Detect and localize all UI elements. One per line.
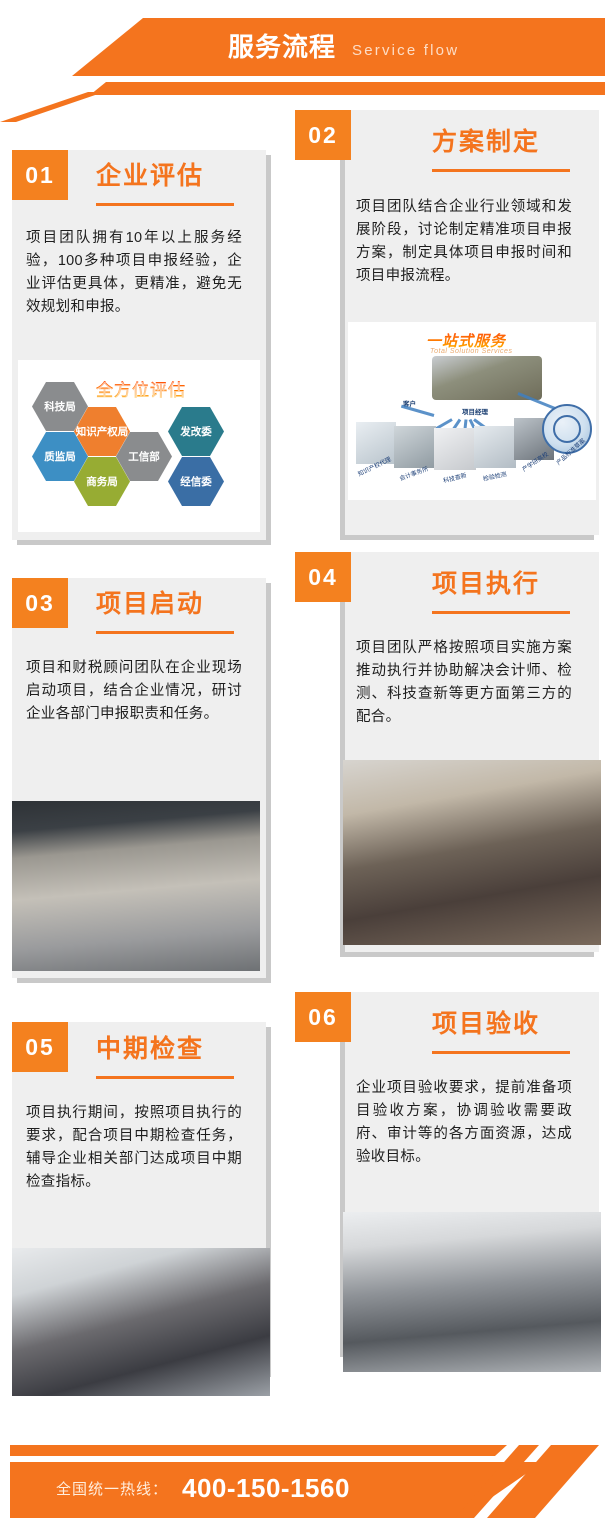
step-title-03: 项目启动 bbox=[96, 588, 204, 620]
page-subtitle: Service flow bbox=[352, 37, 459, 65]
step-title-06: 项目验收 bbox=[432, 1008, 540, 1040]
one-stop-photo-papers bbox=[434, 428, 476, 470]
step-title-rule-03 bbox=[96, 631, 234, 634]
step-photo-06 bbox=[343, 1212, 601, 1372]
hexagon-illustration-title: 全方位评估 bbox=[96, 376, 186, 401]
one-stop-branch-3: 科技查新 bbox=[442, 470, 467, 485]
step-title-rule-01 bbox=[96, 203, 234, 206]
step-badge-03: 03 bbox=[12, 578, 68, 628]
step-body-03: 项目和财税顾问团队在企业现场启动项目，结合企业情况，研讨企业各部门申报职责和任务… bbox=[26, 657, 242, 726]
step-badge-05: 05 bbox=[12, 1022, 68, 1072]
page-footer: 全国统一热线： 400-150-1560 bbox=[0, 1420, 605, 1538]
one-stop-subtitle: Total Solution Services bbox=[430, 348, 512, 355]
step-title-01: 企业评估 bbox=[96, 160, 204, 192]
page-title: 服务流程 bbox=[228, 27, 336, 67]
step-title-05: 中期检查 bbox=[96, 1033, 204, 1065]
header-tail-shape bbox=[0, 92, 120, 122]
step-photo-04 bbox=[343, 760, 601, 945]
step-photo-05 bbox=[12, 1248, 270, 1396]
step-badge-04: 04 bbox=[295, 552, 351, 602]
one-stop-arrow-1 bbox=[401, 405, 435, 417]
step-title-rule-05 bbox=[96, 1076, 234, 1079]
step-badge-02: 02 bbox=[295, 110, 351, 160]
step-body-01: 项目团队拥有10年以上服务经验，100多种项目申报经验，企业评估更具体，更精准，… bbox=[26, 227, 242, 319]
service-flow-poster: 服务流程 Service flow 01 企业评估 项目团队拥有10年以上服务经… bbox=[0, 0, 605, 1538]
step-badge-06: 06 bbox=[295, 992, 351, 1042]
step-body-06: 企业项目验收要求，提前准备项目验收方案，协调验收需要政府、审计等的各方面资源，达… bbox=[356, 1077, 572, 1169]
one-stop-node-manager: 项目经理 bbox=[462, 406, 488, 416]
hexagon-node-jingxin: 经信委 bbox=[168, 457, 224, 506]
one-stop-photo-lab bbox=[474, 426, 516, 468]
step-title-rule-02 bbox=[432, 169, 570, 172]
hotline-number[interactable]: 400-150-1560 bbox=[182, 1470, 350, 1506]
assessment-hexagon-illustration: 全方位评估 科技局 知识产权局 质监局 工信部 商务局 发改委 经信委 bbox=[18, 360, 260, 532]
one-stop-branch-4: 检验检测 bbox=[482, 469, 507, 483]
step-photo-03 bbox=[12, 801, 260, 971]
step-title-rule-04 bbox=[432, 611, 570, 614]
step-body-02: 项目团队结合企业行业领域和发展阶段，讨论制定精准项目申报方案，制定具体项目申报时… bbox=[356, 196, 572, 288]
page-header: 服务流程 Service flow bbox=[0, 0, 605, 118]
hexagon-node-fagai: 发改委 bbox=[168, 407, 224, 456]
step-badge-01: 01 bbox=[12, 150, 68, 200]
step-title-02: 方案制定 bbox=[432, 126, 540, 158]
step-body-04: 项目团队严格按照项目实施方案推动执行并协助解决会计师、检测、科技查新等更方面第三… bbox=[356, 637, 572, 729]
one-stop-photo-office bbox=[394, 426, 436, 468]
hotline-label: 全国统一热线： bbox=[56, 1476, 168, 1504]
step-title-rule-06 bbox=[432, 1051, 570, 1054]
one-stop-hero-photo bbox=[432, 356, 542, 400]
step-body-05: 项目执行期间，按照项目执行的要求，配合项目中期检查任务，辅导企业相关部门达成项目… bbox=[26, 1102, 242, 1194]
step-title-04: 项目执行 bbox=[432, 568, 540, 600]
one-stop-service-illustration: 一站式服务 Total Solution Services 客户 项目经理 知识… bbox=[348, 322, 596, 500]
